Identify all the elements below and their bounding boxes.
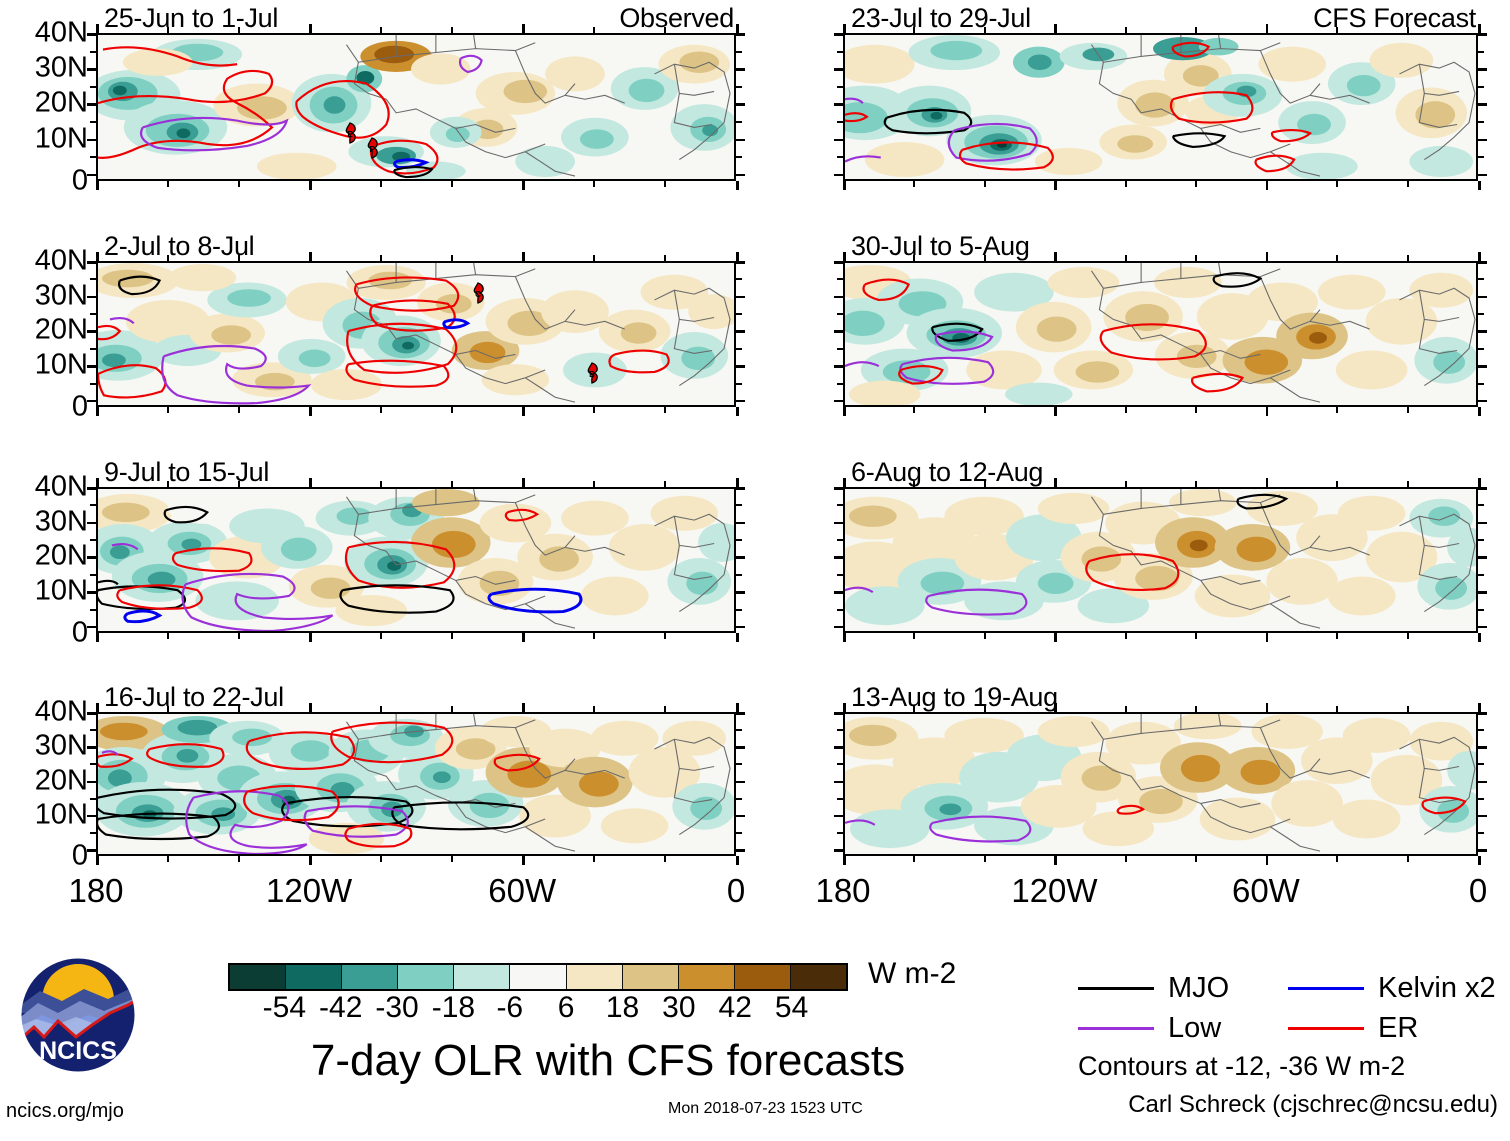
svg-text:C: C xyxy=(475,290,481,299)
y-tick-label: 10N xyxy=(35,349,88,382)
legend-label: MJO xyxy=(1168,972,1229,1005)
contour-note: Contours at -12, -36 W m-2 xyxy=(1078,1051,1405,1082)
storm-marker-F: F xyxy=(362,137,382,159)
y-tick-label: 0 xyxy=(72,391,88,424)
y-tick-label: 30N xyxy=(35,279,88,312)
colorbar-tick: 6 xyxy=(558,991,575,1025)
y-tick-label: 20N xyxy=(35,314,88,347)
colorbar-group: -54 -42 -30 -18 -6 6 18 30 42 54 W m-2 xyxy=(228,963,848,1027)
legend-entry-er: ER xyxy=(1288,1012,1498,1045)
panel-title: 6-Aug to 12-Aug xyxy=(851,457,1043,488)
colorbar-tick: -42 xyxy=(319,991,362,1025)
low-line-icon xyxy=(1078,1027,1154,1030)
colorbar-tick: -18 xyxy=(432,991,475,1025)
panel-observed-4: 16-Jul to 22-Jul xyxy=(96,712,736,856)
site-url-link[interactable]: ncics.org/mjo xyxy=(6,1100,124,1123)
storm-marker-B: B xyxy=(582,362,602,384)
colorbar xyxy=(228,963,848,991)
legend-row: Low ER xyxy=(1078,1008,1498,1048)
map-canvas xyxy=(96,712,736,856)
olr-field xyxy=(845,35,1476,179)
colorbar-tick: -6 xyxy=(496,991,523,1025)
map-canvas: C B xyxy=(96,261,736,407)
y-tick-label: 40N xyxy=(35,471,88,504)
contour-legend: MJO Kelvin x2 Low ER xyxy=(1078,968,1498,1048)
x-tick-label: 120W xyxy=(266,872,352,910)
y-tick-label: 30N xyxy=(35,730,88,763)
colorbar-swatch-0 xyxy=(230,965,286,989)
svg-text:E: E xyxy=(347,130,353,139)
y-tick-label: 0 xyxy=(72,165,88,198)
y-tick-label: 20N xyxy=(35,540,88,573)
legend-entry-kelvin: Kelvin x2 xyxy=(1288,972,1498,1005)
y-tick-label: 20N xyxy=(35,764,88,797)
y-tick-label: 10N xyxy=(35,798,88,831)
panel-title: 25-Jun to 1-Jul xyxy=(104,3,278,34)
map-canvas xyxy=(843,712,1478,856)
figure-title: 7-day OLR with CFS forecasts xyxy=(228,1036,988,1086)
panel-title: 30-Jul to 5-Aug xyxy=(851,231,1030,262)
map-canvas xyxy=(96,487,736,633)
y-tick-label: 10N xyxy=(35,122,88,155)
author-credit: Carl Schreck (cjschrec@ncsu.edu) xyxy=(1128,1091,1498,1119)
storm-marker-E: E xyxy=(340,122,360,144)
olr-field xyxy=(845,263,1476,405)
panel-forecast-2: 30-Jul to 5-Aug xyxy=(843,261,1478,407)
panel-forecast-1: 23-Jul to 29-Jul CFS Forecast xyxy=(843,33,1478,181)
colorbar-tick: -54 xyxy=(263,991,306,1025)
y-tick-label: 30N xyxy=(35,505,88,538)
colorbar-tick: -30 xyxy=(375,991,418,1025)
map-canvas xyxy=(843,33,1478,181)
colorbar-tick: 30 xyxy=(662,991,695,1025)
panel-title: 9-Jul to 15-Jul xyxy=(104,457,269,488)
y-tick-label: 40N xyxy=(35,696,88,729)
olr-field xyxy=(845,489,1476,631)
colorbar-swatch-7 xyxy=(623,965,679,989)
olr-field xyxy=(845,714,1476,854)
svg-text:F: F xyxy=(370,145,375,154)
y-tick-label: 40N xyxy=(35,245,88,278)
panel-title: 2-Jul to 8-Jul xyxy=(104,231,254,262)
colorbar-swatch-6 xyxy=(567,965,623,989)
map-canvas xyxy=(843,487,1478,633)
colorbar-swatch-3 xyxy=(398,965,454,989)
panel-title: 13-Aug to 19-Aug xyxy=(851,682,1058,713)
panel-observed-1: 25-Jun to 1-Jul Observed xyxy=(96,33,736,181)
legend-label: Low xyxy=(1168,1012,1221,1045)
x-tick-label: 60W xyxy=(1232,872,1300,910)
y-tick-label: 20N xyxy=(35,87,88,120)
map-canvas xyxy=(843,261,1478,407)
olr-field xyxy=(98,714,734,854)
x-tick-label: 0 xyxy=(1469,872,1487,910)
x-tick-label: 0 xyxy=(727,872,745,910)
colorbar-swatch-5 xyxy=(510,965,566,989)
storm-marker-C: C xyxy=(468,282,488,304)
panel-observed-3: 9-Jul to 15-Jul xyxy=(96,487,736,633)
colorbar-swatch-4 xyxy=(454,965,510,989)
er-line-icon xyxy=(1288,1027,1364,1030)
colorbar-tick: 18 xyxy=(606,991,639,1025)
y-tick-label: 0 xyxy=(72,840,88,873)
y-tick-label: 0 xyxy=(72,617,88,650)
olr-field xyxy=(98,489,734,631)
svg-text:B: B xyxy=(589,370,595,379)
figure-root: 25-Jun to 1-Jul Observed xyxy=(0,0,1510,1141)
legend-entry-mjo: MJO xyxy=(1078,972,1288,1005)
y-tick-label: 10N xyxy=(35,575,88,608)
ncics-logo-icon[interactable]: NCICS xyxy=(18,955,138,1075)
legend-entry-low: Low xyxy=(1078,1012,1288,1045)
colorbar-swatch-1 xyxy=(286,965,342,989)
panel-forecast-4: 13-Aug to 19-Aug xyxy=(843,712,1478,856)
generation-timestamp: Mon 2018-07-23 1523 UTC xyxy=(668,1100,863,1118)
mjo-line-icon xyxy=(1078,987,1154,990)
colorbar-swatch-8 xyxy=(679,965,735,989)
x-tick-label: 120W xyxy=(1011,872,1097,910)
panel-title: 16-Jul to 22-Jul xyxy=(104,682,284,713)
colorbar-tick: 54 xyxy=(775,991,808,1025)
panel-forecast-3: 6-Aug to 12-Aug xyxy=(843,487,1478,633)
olr-field xyxy=(98,35,734,179)
x-tick-label: 180 xyxy=(815,872,870,910)
colorbar-tick-labels: -54 -42 -30 -18 -6 6 18 30 42 54 xyxy=(228,991,848,1027)
panel-observed-2: 2-Jul to 8-Jul xyxy=(96,261,736,407)
x-tick-label: 180 xyxy=(68,872,123,910)
ncics-logo-text: NCICS xyxy=(39,1037,117,1065)
ncics-logo[interactable]: NCICS xyxy=(18,955,138,1080)
colorbar-swatch-9 xyxy=(735,965,791,989)
y-tick-label: 30N xyxy=(35,52,88,85)
map-canvas: E F xyxy=(96,33,736,181)
column-header-observed: Observed xyxy=(619,3,734,34)
legend-label: Kelvin x2 xyxy=(1378,972,1496,1005)
x-tick-label: 60W xyxy=(488,872,556,910)
legend-row: MJO Kelvin x2 xyxy=(1078,968,1498,1008)
y-tick-label: 40N xyxy=(35,17,88,50)
panel-title: 23-Jul to 29-Jul xyxy=(851,3,1031,34)
olr-field xyxy=(98,263,734,405)
legend-label: ER xyxy=(1378,1012,1418,1045)
colorbar-swatch-2 xyxy=(342,965,398,989)
kelvin-line-icon xyxy=(1288,987,1364,990)
colorbar-units: W m-2 xyxy=(868,957,956,991)
colorbar-swatch-10 xyxy=(791,965,846,989)
colorbar-tick: 42 xyxy=(719,991,752,1025)
